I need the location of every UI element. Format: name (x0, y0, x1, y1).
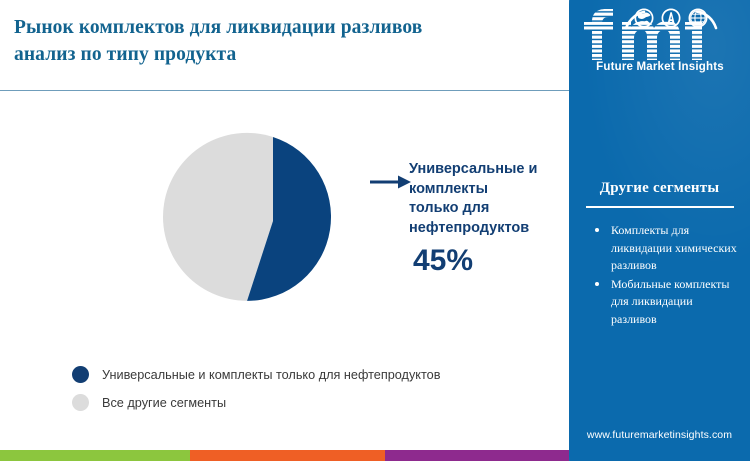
page-title: Рынок комплектов для ликвидации разливов… (14, 14, 559, 68)
infographic-canvas: Рынок комплектов для ликвидации разливов… (0, 0, 750, 461)
callout-line-3: только для (409, 199, 564, 219)
bullet-icon (595, 228, 599, 232)
footer-color-bar (0, 450, 569, 461)
chart-legend: Универсальные и комплекты только для неф… (72, 366, 552, 422)
page-title-line-1: Рынок комплектов для ликвидации разливов (14, 14, 559, 41)
sidebar-list-item: Мобильные комплекты для ликвидации разли… (589, 276, 739, 329)
sidebar-heading: Другие сегменты (569, 180, 750, 197)
legend-item-label: Универсальные и комплекты только для неф… (102, 367, 440, 383)
sidebar-list-item-label: Комплекты для ликвидации химических разл… (611, 223, 737, 272)
sidebar-divider (586, 206, 734, 208)
callout-arrow-icon (370, 173, 412, 191)
footer-website-url[interactable]: www.futuremarketinsights.com (569, 429, 750, 441)
fmi-logo[interactable]: Future Market Insights (582, 8, 738, 80)
callout-label: Универсальные и комплекты только для неф… (409, 160, 564, 238)
sidebar-list-item-label: Мобильные комплекты для ликвидации разли… (611, 277, 729, 326)
title-block: Рынок комплектов для ликвидации разливов… (0, 0, 569, 91)
color-bar-segment-green (0, 450, 190, 461)
callout-line-1: Универсальные и (409, 160, 564, 180)
sidebar-list-item: Комплекты для ликвидации химических разл… (589, 222, 739, 275)
legend-color-swatch (72, 394, 89, 411)
title-divider (0, 90, 569, 91)
pie-chart (189, 137, 357, 305)
callout-line-4: нефтепродуктов (409, 219, 564, 239)
legend-color-swatch (72, 366, 89, 383)
legend-item: Все другие сегменты (72, 394, 552, 411)
callout-line-2: комплекты (409, 180, 564, 200)
side-panel: Future Market Insights Другие сегменты К… (569, 0, 750, 461)
fmi-logo-mark (582, 8, 738, 62)
callout-percent-value: 45% (413, 245, 564, 277)
bullet-icon (595, 282, 599, 286)
page-title-line-2: анализ по типу продукта (14, 41, 559, 68)
sidebar-segment-list: Комплекты для ликвидации химических разл… (589, 222, 739, 329)
color-bar-segment-purple (385, 450, 569, 461)
color-bar-segment-orange (190, 450, 385, 461)
legend-item-label: Все другие сегменты (102, 395, 226, 411)
callout-block: Универсальные и комплекты только для неф… (409, 160, 564, 277)
legend-item: Универсальные и комплекты только для неф… (72, 366, 552, 383)
logo-tagline: Future Market Insights (582, 61, 738, 73)
